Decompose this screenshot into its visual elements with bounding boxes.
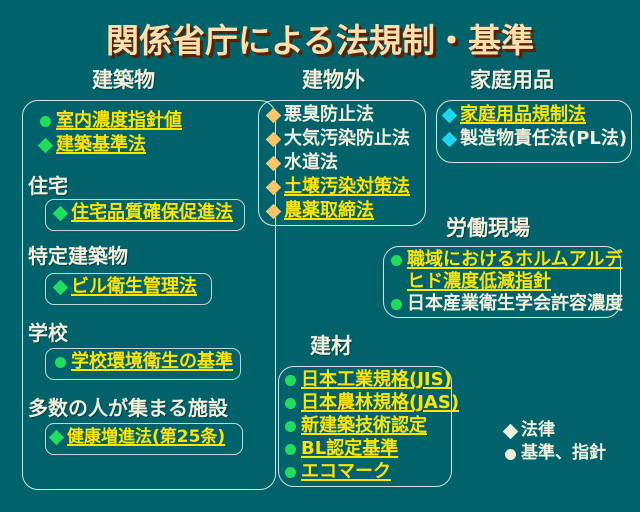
circle-bullet-icon <box>40 116 51 127</box>
list-item-label: 製造物責任法(PL法) <box>460 128 627 150</box>
list-item: 日本農林規格(JAS) <box>285 392 459 414</box>
list-item-label: 農薬取締法 <box>284 200 374 222</box>
list-item-label: 室内濃度指針値 <box>56 110 182 132</box>
section-heading-household-goods: 家庭用品 <box>470 64 554 94</box>
diamond-bullet-icon <box>266 108 282 124</box>
list-item: 大気汚染防止法 <box>268 128 410 150</box>
diamond-bullet-icon <box>266 156 282 172</box>
list-item: 水道法 <box>268 152 338 174</box>
list-item-label: 大気汚染防止法 <box>284 128 410 150</box>
page-title: 関係省庁による法規制・基準 <box>0 14 640 62</box>
list-item-label: 建築基準法 <box>56 134 146 156</box>
list-item: 家庭用品規制法 <box>444 104 586 126</box>
list-item-label: 新建築技術認定 <box>301 415 427 437</box>
list-item-label: 学校環境衛生の基準 <box>71 351 233 373</box>
list-item-label: BL認定基準 <box>301 438 398 460</box>
list-item-label: 日本産業衛生学会許容濃度 <box>407 293 623 315</box>
list-item: 農薬取締法 <box>268 200 374 222</box>
circle-bullet-icon <box>285 375 296 386</box>
diamond-bullet-icon <box>503 424 519 440</box>
circle-bullet-icon <box>285 421 296 432</box>
circle-bullet-icon <box>285 444 296 455</box>
list-item-label: 健康増進法(第25条) <box>67 426 225 448</box>
section-heading-building-materials: 建材 <box>310 330 352 360</box>
list-item-label: エコマーク <box>301 461 391 483</box>
circle-bullet-icon <box>285 467 296 478</box>
slide-canvas: 関係省庁による法規制・基準 建築物 室内濃度指針値 建築基準法 住宅 住宅品質確… <box>0 0 640 512</box>
circle-bullet-icon <box>285 398 296 409</box>
diamond-bullet-icon <box>442 132 458 148</box>
circle-bullet-icon <box>391 299 402 310</box>
diamond-bullet-icon <box>53 206 69 222</box>
legend-item-standard: 基準、指針 <box>505 443 606 464</box>
circle-bullet-icon <box>391 255 402 266</box>
list-item: 学校環境衛生の基準 <box>55 351 233 373</box>
list-item: 日本工業規格(JIS) <box>285 369 452 391</box>
list-item: 製造物責任法(PL法) <box>444 128 627 150</box>
list-item: 室内濃度指針値 <box>40 110 182 132</box>
legend-item-law: 法律 <box>505 420 606 441</box>
list-item: 悪臭防止法 <box>268 104 374 126</box>
list-item: 健康増進法(第25条) <box>51 426 225 448</box>
diamond-bullet-icon <box>266 204 282 220</box>
list-item-label: 日本農林規格(JAS) <box>301 392 459 414</box>
diamond-bullet-icon <box>442 108 458 124</box>
list-item: 職域におけるホルムアルデ ヒド濃度低減指針 <box>391 249 622 293</box>
list-item-label: 日本工業規格(JIS) <box>301 369 452 391</box>
list-item: 建築基準法 <box>40 134 146 156</box>
list-item-label: ビル衛生管理法 <box>71 276 197 298</box>
list-item-label: 家庭用品規制法 <box>460 104 586 126</box>
diamond-bullet-icon <box>38 138 54 154</box>
list-item-label: 水道法 <box>284 152 338 174</box>
subsection-heading-specified-buildings: 特定建築物 <box>28 240 128 269</box>
list-item: ビル衛生管理法 <box>55 276 197 298</box>
section-heading-buildings: 建築物 <box>92 64 155 94</box>
diamond-bullet-icon <box>266 180 282 196</box>
subsection-heading-housing: 住宅 <box>28 170 68 199</box>
list-item: BL認定基準 <box>285 438 398 460</box>
circle-bullet-icon <box>55 357 66 368</box>
list-item: 日本産業衛生学会許容濃度 <box>391 293 623 315</box>
legend: 法律 基準、指針 <box>505 420 606 466</box>
list-item-label: 悪臭防止法 <box>284 104 374 126</box>
diamond-bullet-icon <box>53 280 69 296</box>
legend-item-label: 基準、指針 <box>521 443 606 464</box>
section-heading-outside-buildings: 建物外 <box>302 64 365 94</box>
circle-bullet-icon <box>505 449 516 460</box>
list-item-label: 職域におけるホルムアルデ <box>407 249 622 271</box>
list-item-label: 住宅品質確保促進法 <box>71 202 233 224</box>
diamond-bullet-icon <box>49 430 65 446</box>
list-item: 土壌汚染対策法 <box>268 176 410 198</box>
legend-item-label: 法律 <box>521 420 555 441</box>
list-item-label-line2: ヒド濃度低減指針 <box>407 271 622 293</box>
list-item: 新建築技術認定 <box>285 415 427 437</box>
list-item: エコマーク <box>285 461 391 483</box>
diamond-bullet-icon <box>266 132 282 148</box>
list-item-label: 土壌汚染対策法 <box>284 176 410 198</box>
section-heading-workplace: 労働現場 <box>446 212 530 242</box>
list-item: 住宅品質確保促進法 <box>55 202 233 224</box>
subsection-heading-school: 学校 <box>28 317 68 346</box>
subsection-heading-crowded-facilities: 多数の人が集まる施設 <box>28 392 228 421</box>
